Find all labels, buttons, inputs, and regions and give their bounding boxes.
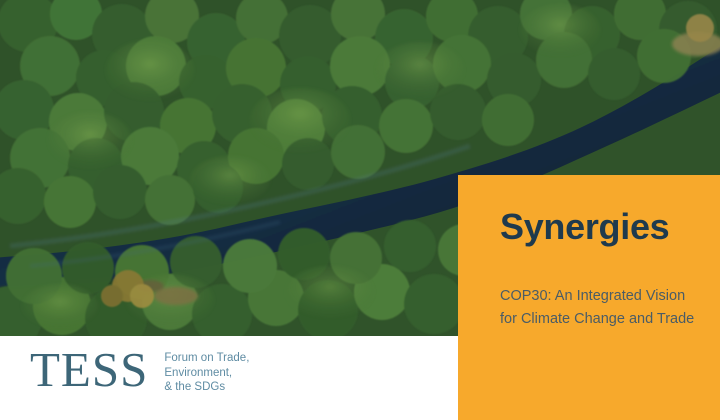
title-panel: Synergies COP30: An Integrated Vision fo… — [458, 175, 720, 420]
tess-tagline-line-1: Forum on Trade, — [164, 351, 249, 366]
tess-tagline-line-2: Environment, — [164, 366, 249, 381]
page-subtitle-line-1: COP30: An Integrated Vision — [500, 285, 710, 308]
page-subtitle: COP30: An Integrated Vision for Climate … — [500, 285, 710, 331]
tess-logo: TESS Forum on Trade, Environment, & the … — [30, 345, 249, 395]
page-title: Synergies — [500, 207, 669, 247]
presentation-slide: TESS Forum on Trade, Environment, & the … — [0, 0, 720, 420]
page-subtitle-line-2: for Climate Change and Trade — [500, 308, 710, 331]
tess-tagline-line-3: & the SDGs — [164, 380, 249, 395]
tess-tagline: Forum on Trade, Environment, & the SDGs — [164, 351, 249, 395]
tess-wordmark: TESS — [30, 345, 148, 395]
